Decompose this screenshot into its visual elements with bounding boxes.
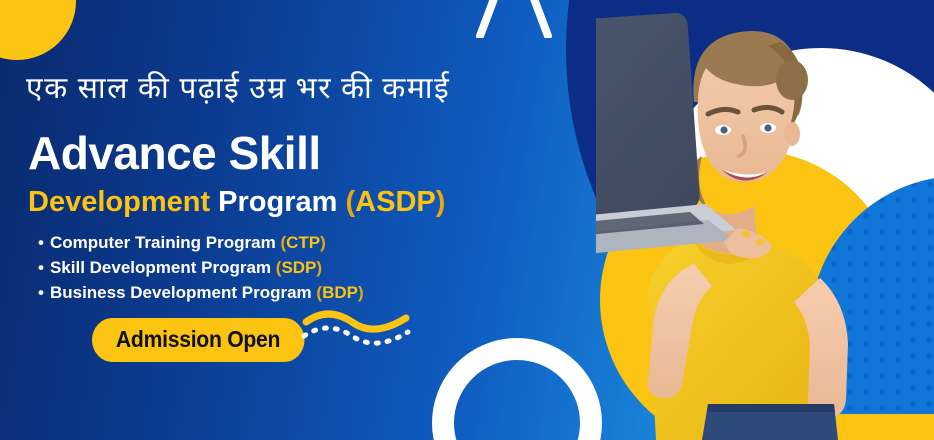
program-list: •Computer Training Program (CTP) •Skill … [38,230,364,305]
program-abbr: BDP [322,283,358,302]
student-with-laptop-illustration [596,6,934,440]
headline-word-development: Development [28,186,210,218]
program-paren-close: ) [320,233,326,252]
program-name: Skill Development Program [50,258,271,277]
list-item: •Computer Training Program (CTP) [38,230,364,255]
wave-accent-icon [300,306,412,350]
list-item: •Business Development Program (BDP) [38,280,364,305]
bullet-icon: • [38,233,44,252]
program-abbr: CTP [286,233,320,252]
list-item: •Skill Development Program (SDP) [38,255,364,280]
program-paren-close: ) [358,283,364,302]
program-name: Computer Training Program [50,233,276,252]
bullet-icon: • [38,258,44,277]
bullet-icon: • [38,283,44,302]
headline-paren-close: ) [436,186,446,218]
headline-word-program: Program [218,186,337,218]
program-abbr: SDP [281,258,316,277]
promo-banner: एक साल की पढ़ाई उम्र भर की कमाई Advance … [0,0,934,440]
headline-primary: Advance Skill [28,126,321,180]
banner-text-block: एक साल की पढ़ाई उम्र भर की कमाई Advance … [0,0,560,440]
headline-paren-open: ( [346,186,356,218]
admission-open-button[interactable]: Admission Open [92,318,304,362]
headline-acronym: ASDP [355,186,436,218]
hindi-tagline: एक साल की पढ़ाई उम्र भर की कमाई [26,66,450,107]
program-name: Business Development Program [50,283,312,302]
program-paren-close: ) [316,258,322,277]
headline-secondary: Development Program (ASDP) [28,186,445,219]
